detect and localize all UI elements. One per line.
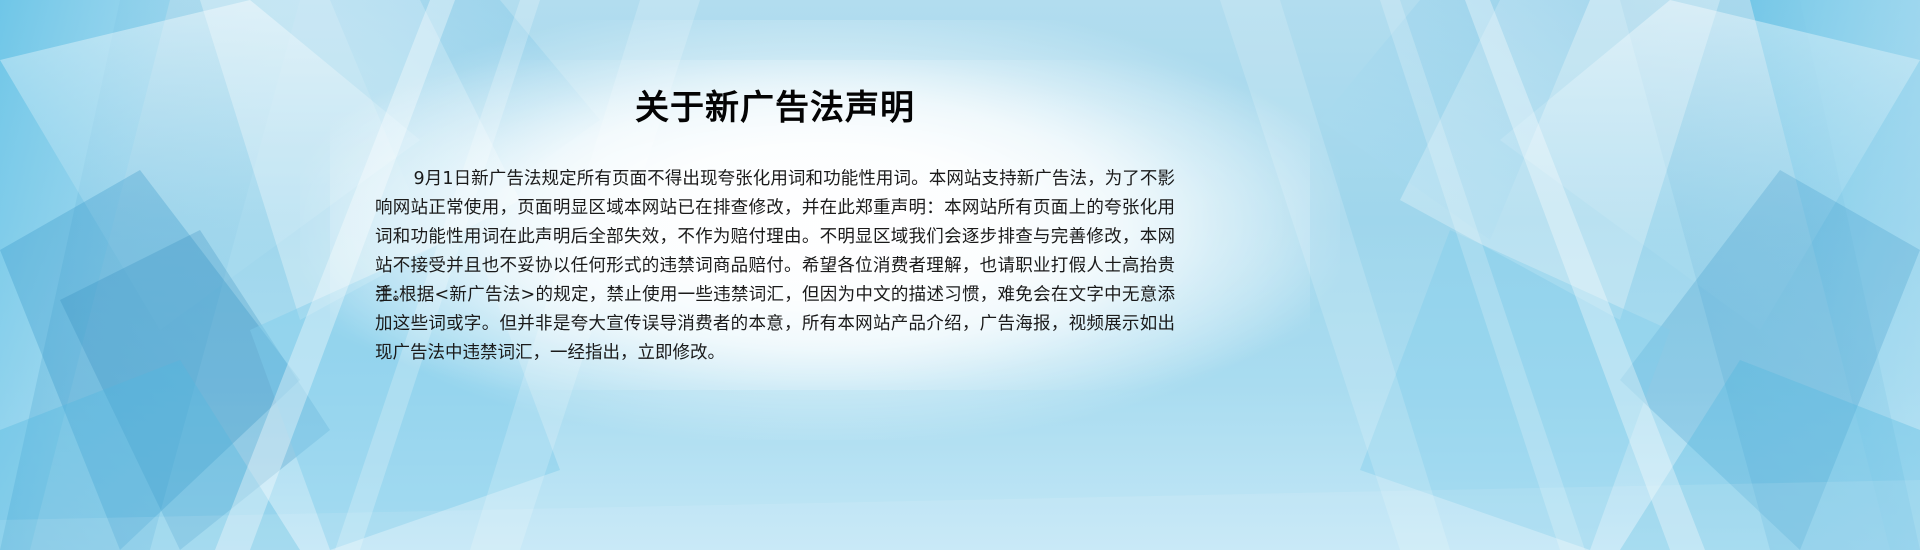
statement-paragraph-note: 注:根据<新广告法>的规定，禁止使用一些违禁词汇，但因为中文的描述习惯，难免会在…: [375, 281, 1175, 368]
advertising-law-statement-banner: 关于新广告法声明 9月1日新广告法规定所有页面不得出现夸张化用词和功能性用词。本…: [0, 0, 1920, 550]
statement-content: 关于新广告法声明 9月1日新广告法规定所有页面不得出现夸张化用词和功能性用词。本…: [375, 0, 1175, 550]
page-title: 关于新广告法声明: [375, 88, 1175, 129]
